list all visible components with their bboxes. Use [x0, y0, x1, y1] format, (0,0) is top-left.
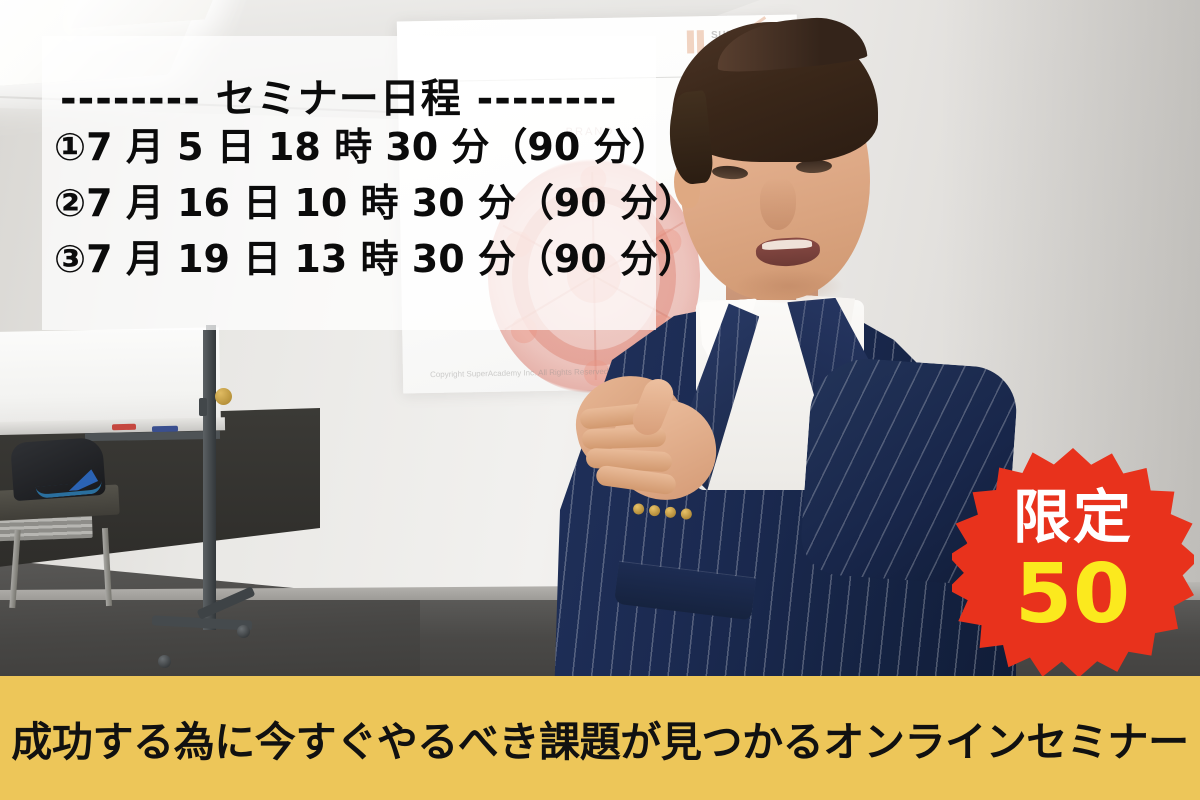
- caster-wheel-icon: [158, 655, 171, 668]
- whiteboard-post: [203, 330, 216, 630]
- whiteboard: [0, 327, 221, 432]
- schedule-row-2: ②7 月 16 日 10 時 30 分（90 分）: [54, 176, 654, 232]
- nose: [760, 178, 796, 230]
- caster-wheel-icon: [237, 625, 250, 638]
- whiteboard-clip-icon: [199, 398, 207, 416]
- red-marker-icon: [112, 424, 136, 431]
- chin-shadow: [734, 268, 844, 304]
- badge-label: 限定: [952, 488, 1194, 546]
- promo-banner-canvas: SUPER ACADEMY BRAND Cop: [0, 0, 1200, 800]
- whiteboard-knob-icon: [215, 388, 232, 405]
- schedule-list: ①7 月 5 日 18 時 30 分（90 分） ②7 月 16 日 10 時 …: [54, 120, 654, 288]
- schedule-row-1: ①7 月 5 日 18 時 30 分（90 分）: [54, 120, 654, 176]
- banner-headline: 成功する為に今すぐやるべき課題が見つかるオンラインセミナー: [11, 708, 1188, 768]
- badge-number: 50: [952, 554, 1194, 636]
- bottom-banner: 成功する為に今すぐやるべき課題が見つかるオンラインセミナー: [0, 676, 1200, 800]
- schedule-title: -------- セミナー日程 --------: [60, 66, 640, 124]
- schedule-row-3: ③7 月 19 日 13 時 30 分（90 分）: [54, 232, 654, 288]
- limited-quantity-badge: 限定 50: [952, 448, 1194, 680]
